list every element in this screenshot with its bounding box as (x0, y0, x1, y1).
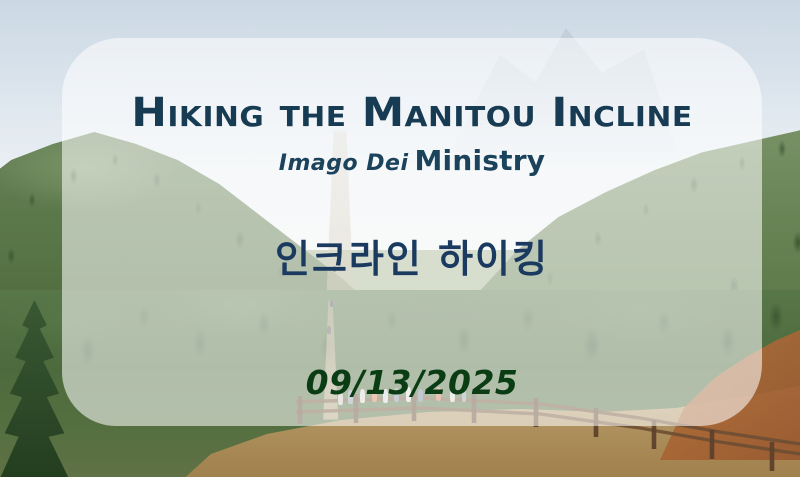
event-date: 09/13/2025 (62, 363, 762, 402)
organization-subtitle: Imago DeiMinistry (62, 144, 762, 177)
frosted-content-card: Hiking the Manitou Incline Imago DeiMini… (62, 38, 762, 426)
korean-heading: 인크라인 하이킹 (62, 228, 762, 283)
organization-name-secondary: Ministry (414, 144, 545, 177)
poster-canvas: Hiking the Manitou Incline Imago DeiMini… (0, 0, 800, 477)
organization-name-primary: Imago Dei (279, 151, 409, 176)
card-content: Hiking the Manitou Incline Imago DeiMini… (62, 38, 762, 426)
page-title: Hiking the Manitou Incline (41, 90, 783, 136)
